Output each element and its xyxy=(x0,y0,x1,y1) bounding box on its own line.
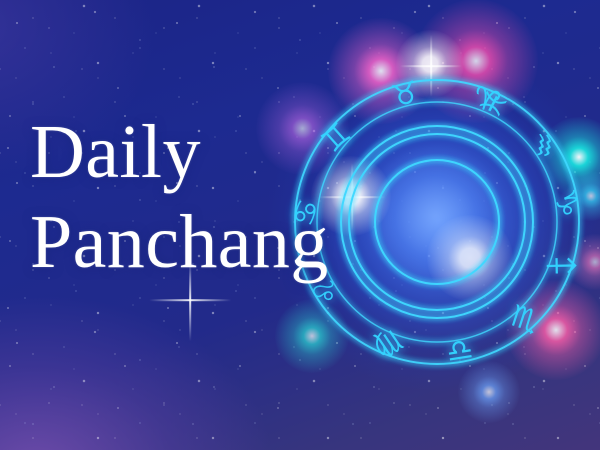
wheel-ring-mid-ring-outer xyxy=(341,126,533,318)
page-title: Daily Panchang xyxy=(30,108,360,287)
zodiac-glyph-scorpio: ♏ xyxy=(506,299,542,341)
zodiac-glyph-libra: ♎ xyxy=(444,332,476,371)
title-line-1: Daily xyxy=(30,108,360,198)
panchang-banner: ♈♉♊♋♌♍♎♏♐♑♒♓ Daily Panchang xyxy=(0,0,600,450)
zodiac-glyph-capricorn: ♑ xyxy=(546,185,588,222)
title-line-2: Panchang xyxy=(30,198,360,288)
zodiac-glyph-aquarius: ♒ xyxy=(524,130,562,160)
wheel-ring-core-circle xyxy=(375,160,499,284)
